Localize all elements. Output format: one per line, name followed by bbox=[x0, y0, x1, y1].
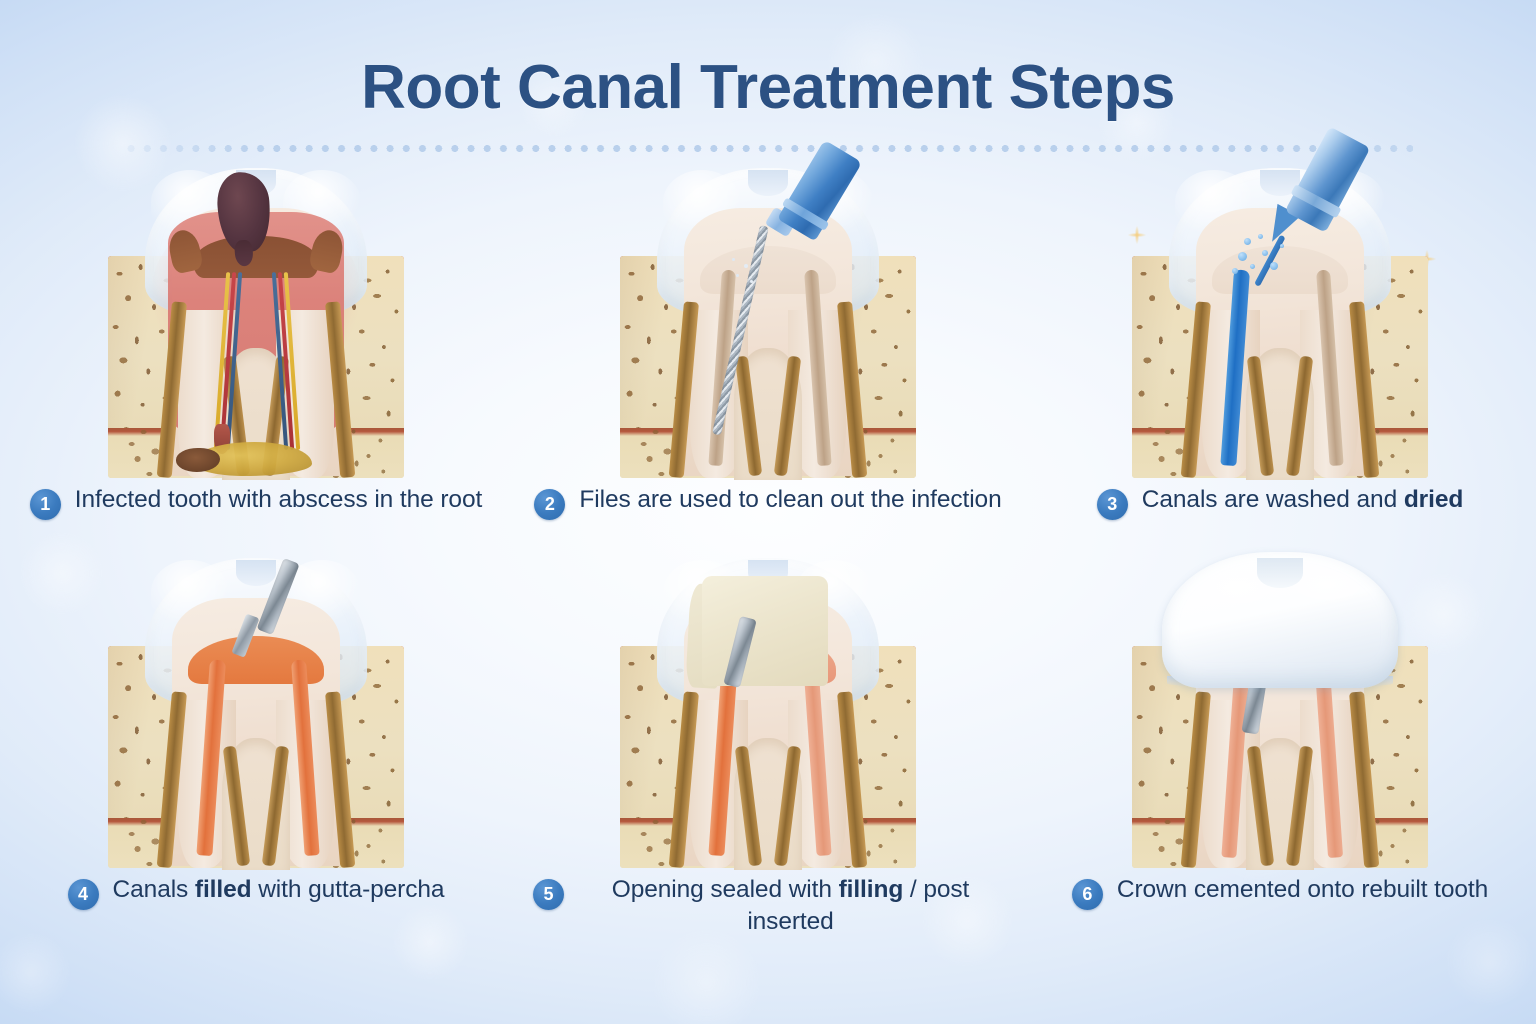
tooth-illustration-crown bbox=[1130, 550, 1430, 868]
step-card-4: 4 Canals filled with gutta-percha bbox=[0, 550, 512, 940]
step-caption-4: 4 Canals filled with gutta-percha bbox=[21, 874, 491, 910]
steps-grid: 1 Infected tooth with abscess in the roo… bbox=[0, 160, 1536, 940]
caption-line: abscess in the root bbox=[278, 486, 482, 513]
enamel-fissure bbox=[236, 560, 276, 586]
step-badge-6: 6 bbox=[1072, 879, 1103, 910]
step-caption-2: 2 Files are used to clean out the infect… bbox=[533, 484, 1003, 520]
step-card-1: 1 Infected tooth with abscess in the roo… bbox=[0, 160, 512, 550]
water-droplet bbox=[1270, 262, 1278, 270]
step-badge-1: 1 bbox=[30, 489, 61, 520]
water-droplet bbox=[1238, 252, 1247, 261]
step-caption-3: 3 Canals are washed and dried bbox=[1045, 484, 1515, 520]
step-card-5: 5 Opening sealed with filling / post ins… bbox=[512, 550, 1024, 940]
step-caption-text-3: Canals are washed and dried bbox=[1142, 484, 1463, 516]
caption-line: Opening sealed with bbox=[612, 876, 839, 903]
sparkle-icon bbox=[1124, 222, 1150, 248]
step-card-2: 2 Files are used to clean out the infect… bbox=[512, 160, 1024, 550]
step-caption-text-5: Opening sealed with filling / post inser… bbox=[578, 874, 1003, 938]
step-caption-text-1: Infected tooth with abscess in the root bbox=[75, 484, 482, 516]
step-caption-text-6: Crown cemented onto rebuilt tooth bbox=[1117, 874, 1488, 906]
step-caption-6: 6 Crown cemented onto rebuilt tooth bbox=[1045, 874, 1515, 910]
step-badge-2: 2 bbox=[534, 489, 565, 520]
tooth-illustration-infected bbox=[106, 160, 406, 478]
step-badge-3: 3 bbox=[1097, 489, 1128, 520]
caption-line: Canals bbox=[113, 876, 195, 903]
enamel-fissure bbox=[748, 170, 788, 196]
debris-dot bbox=[744, 264, 748, 268]
step-caption-text-4: Canals filled with gutta-percha bbox=[113, 874, 445, 906]
step-caption-text-2: Files are used to clean out the infectio… bbox=[579, 484, 1001, 516]
debris-dot bbox=[736, 274, 739, 277]
debris-dot bbox=[750, 280, 753, 283]
dotted-divider bbox=[123, 145, 1413, 152]
header: Root Canal Treatment Steps bbox=[0, 0, 1536, 152]
step-badge-4: 4 bbox=[68, 879, 99, 910]
page-title: Root Canal Treatment Steps bbox=[0, 0, 1536, 123]
caption-line: Canals are washed and bbox=[1142, 486, 1404, 513]
tooth-illustration-gutta-percha bbox=[106, 550, 406, 868]
water-droplet bbox=[1250, 264, 1255, 269]
step-card-6: 6 Crown cemented onto rebuilt tooth bbox=[1024, 550, 1536, 940]
water-droplet bbox=[1232, 268, 1238, 274]
tooth-illustration-file-cleaning bbox=[618, 160, 918, 478]
caption-line: with gutta-percha bbox=[252, 876, 445, 903]
caption-emphasis: filling bbox=[839, 876, 904, 903]
water-droplet bbox=[1258, 234, 1263, 239]
caption-emphasis: dried bbox=[1404, 486, 1463, 513]
core-filling-block bbox=[702, 576, 828, 686]
caption-line: Infected tooth with bbox=[75, 486, 279, 513]
step-card-3: 3 Canals are washed and dried bbox=[1024, 160, 1536, 550]
crown-occlusal-groove bbox=[1257, 558, 1303, 588]
tooth-illustration-filling-post bbox=[618, 550, 918, 868]
tooth-illustration-irrigation bbox=[1130, 160, 1430, 478]
water-droplet bbox=[1262, 250, 1268, 256]
debris-dot bbox=[732, 258, 735, 261]
step-caption-1: 1 Infected tooth with abscess in the roo… bbox=[21, 484, 491, 520]
step-badge-5: 5 bbox=[533, 879, 564, 910]
water-droplet bbox=[1280, 244, 1284, 248]
step-caption-5: 5 Opening sealed with filling / post ins… bbox=[533, 874, 1003, 938]
caption-emphasis: filled bbox=[195, 876, 252, 903]
water-droplet bbox=[1244, 238, 1251, 245]
